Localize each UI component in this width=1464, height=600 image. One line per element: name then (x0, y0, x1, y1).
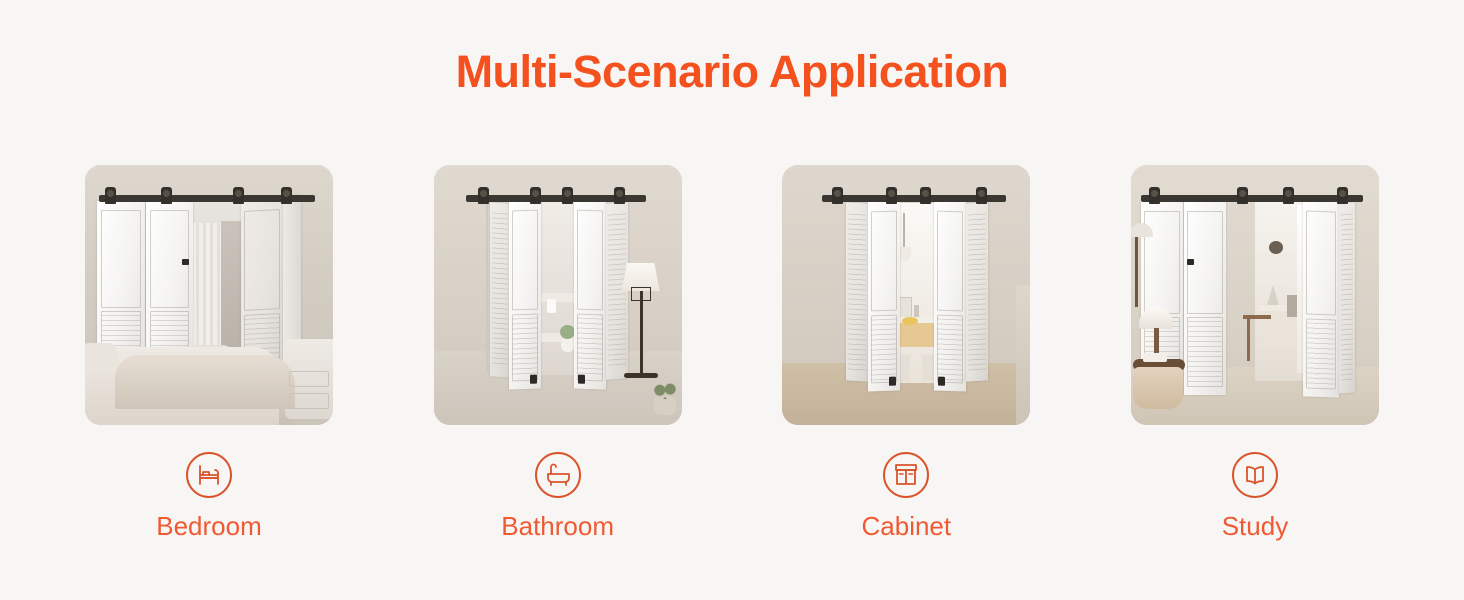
scenario-card-study[interactable]: Study (1131, 165, 1379, 539)
cabinet-icon (882, 451, 930, 499)
scenario-photo-cabinet[interactable] (782, 165, 1030, 425)
scenario-photo-study[interactable] (1131, 165, 1379, 425)
scenario-photo-bathroom[interactable] (434, 165, 682, 425)
scenario-label-bedroom: Bedroom (156, 513, 262, 539)
bed-icon (185, 451, 233, 499)
scenario-card-bathroom[interactable]: Bathroom (434, 165, 682, 539)
scenario-label-cabinet: Cabinet (862, 513, 952, 539)
scenario-photo-bedroom[interactable] (85, 165, 333, 425)
scenario-label-bathroom: Bathroom (501, 513, 614, 539)
open-book-icon (1231, 451, 1279, 499)
scenario-card-cabinet[interactable]: Cabinet (782, 165, 1030, 539)
multi-scenario-application-banner: Multi-Scenario Application (0, 0, 1464, 600)
page-title: Multi-Scenario Application (0, 46, 1464, 98)
bathtub-icon (534, 451, 582, 499)
scenario-card-bedroom[interactable]: Bedroom (85, 165, 333, 539)
scenario-card-row: Bedroom (85, 165, 1379, 539)
scenario-label-study: Study (1222, 513, 1289, 539)
